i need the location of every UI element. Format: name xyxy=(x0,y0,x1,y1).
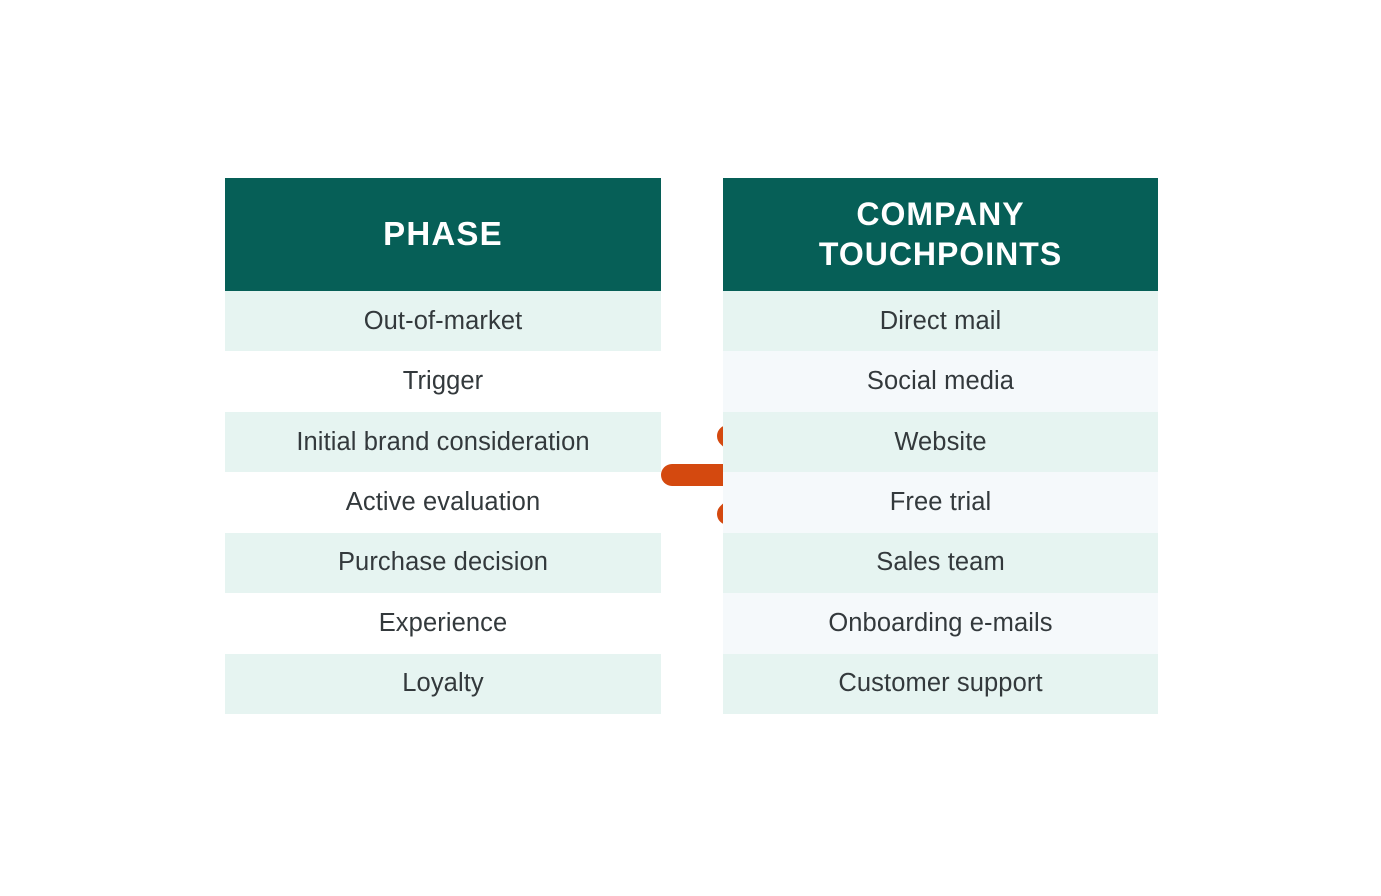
diagram-canvas: Phase Out-of-market Trigger Initial bran… xyxy=(0,0,1381,896)
table-row[interactable]: Free trial xyxy=(723,472,1158,532)
table-row[interactable]: Purchase decision xyxy=(225,533,661,593)
phase-table-header-line-1: Phase xyxy=(383,214,503,254)
table-row[interactable]: Loyalty xyxy=(225,654,661,714)
table-row[interactable]: Website xyxy=(723,412,1158,472)
table-row[interactable]: Customer support xyxy=(723,654,1158,714)
phase-table: Phase Out-of-market Trigger Initial bran… xyxy=(225,178,661,714)
table-row[interactable]: Out-of-market xyxy=(225,291,661,351)
phase-table-body: Out-of-market Trigger Initial brand cons… xyxy=(225,291,661,714)
table-row[interactable]: Active evaluation xyxy=(225,472,661,532)
phase-table-header: Phase xyxy=(225,178,661,291)
company-touchpoints-table-header-line-1: Company xyxy=(819,195,1062,234)
company-touchpoints-table-header: Company Touchpoints xyxy=(723,178,1158,291)
company-touchpoints-table-body: Direct mail Social media Website Free tr… xyxy=(723,291,1158,714)
company-touchpoints-table: Company Touchpoints Direct mail Social m… xyxy=(723,178,1158,714)
company-touchpoints-table-header-line-2: Touchpoints xyxy=(819,235,1062,274)
table-row[interactable]: Direct mail xyxy=(723,291,1158,351)
table-row[interactable]: Trigger xyxy=(225,351,661,411)
table-row[interactable]: Onboarding e-mails xyxy=(723,593,1158,653)
table-row[interactable]: Experience xyxy=(225,593,661,653)
table-row[interactable]: Initial brand consideration xyxy=(225,412,661,472)
table-row[interactable]: Social media xyxy=(723,351,1158,411)
table-row[interactable]: Sales team xyxy=(723,533,1158,593)
